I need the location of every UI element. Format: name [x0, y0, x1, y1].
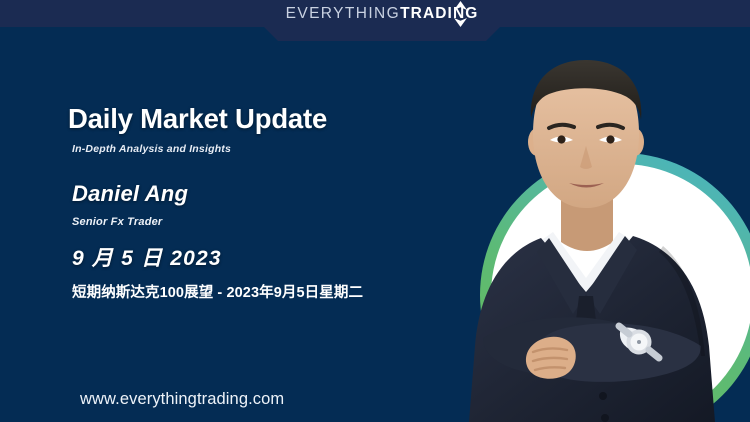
double-arrow-diamond-icon [454, 1, 467, 27]
page-subtitle: In-Depth Analysis and Insights [72, 143, 468, 155]
brand-logo-text: EVERYTHINGTRADING [286, 6, 479, 22]
brand-logo[interactable]: EVERYTHINGTRADING [264, 0, 500, 27]
brand-logo-light-text: EVERYTHING [286, 5, 401, 22]
page-title: Daily Market Update [68, 104, 468, 134]
date-line: 9 月 5 日 2023 [72, 247, 468, 270]
presenter-photo [453, 46, 750, 422]
topic-headline: 短期纳斯达克100展望 - 2023年9月5日星期二 [72, 285, 468, 302]
presenter-name: Daniel Ang [72, 182, 468, 206]
slide-canvas: EVERYTHINGTRADING [0, 0, 750, 422]
presenter-role: Senior Fx Trader [72, 216, 468, 228]
copy-block: Daily Market Update In-Depth Analysis an… [68, 104, 468, 302]
portrait-area [425, 0, 750, 422]
website-url[interactable]: www.everythingtrading.com [80, 390, 284, 409]
header-notch-shape [264, 27, 500, 41]
